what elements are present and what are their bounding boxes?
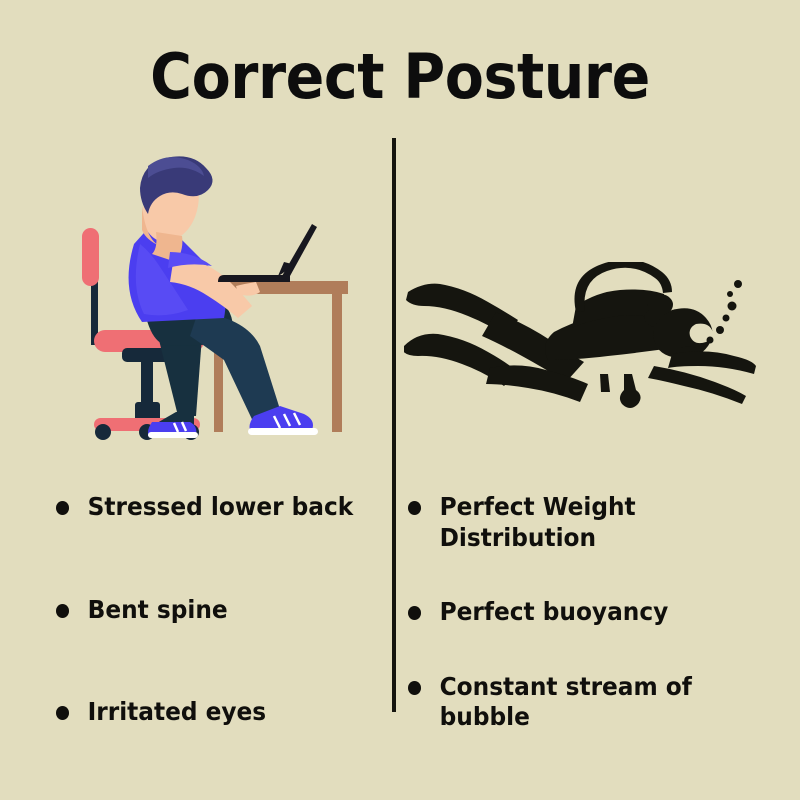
diver-silhouette xyxy=(404,262,756,408)
bullet-text: Constant stream of bubble xyxy=(440,672,692,732)
page-title: Correct Posture xyxy=(32,44,768,109)
list-item: Perfect buoyancy xyxy=(408,597,734,628)
bullet-dot-icon xyxy=(408,681,421,695)
bullet-dot-icon xyxy=(56,501,69,515)
bubble xyxy=(734,280,742,288)
left-bullet-list: Stressed lower back Bent spine Irritated… xyxy=(56,492,396,800)
bullet-text: Bent spine xyxy=(88,595,228,624)
bubble xyxy=(716,326,724,334)
bubble xyxy=(723,315,730,322)
bubble xyxy=(707,337,714,344)
list-item: Stressed lower back xyxy=(56,492,372,523)
bullet-dot-icon xyxy=(408,501,421,515)
bullet-text: Irritated eyes xyxy=(88,697,267,726)
list-item: Irritated eyes xyxy=(56,697,372,728)
right-bullet-list: Perfect Weight Distribution Perfect buoy… xyxy=(408,492,758,777)
bullet-dot-icon xyxy=(56,706,69,720)
laptop xyxy=(218,224,317,282)
poster-canvas: Correct Posture xyxy=(0,0,800,800)
far-leg xyxy=(158,336,202,416)
list-item: Constant stream of bubble xyxy=(408,672,734,733)
bullet-dot-icon xyxy=(408,606,421,620)
bullet-text: Stressed lower back xyxy=(88,492,354,521)
bullet-text: Perfect Weight Distribution xyxy=(440,492,636,552)
list-item: Bent spine xyxy=(56,595,372,626)
list-item: Perfect Weight Distribution xyxy=(408,492,734,553)
desk-posture-illustration xyxy=(78,140,378,450)
bubble xyxy=(727,291,733,297)
scuba-diver-illustration xyxy=(404,262,756,412)
bullet-dot-icon xyxy=(56,604,69,618)
bullet-text: Perfect buoyancy xyxy=(440,597,669,626)
bubble xyxy=(728,302,737,311)
